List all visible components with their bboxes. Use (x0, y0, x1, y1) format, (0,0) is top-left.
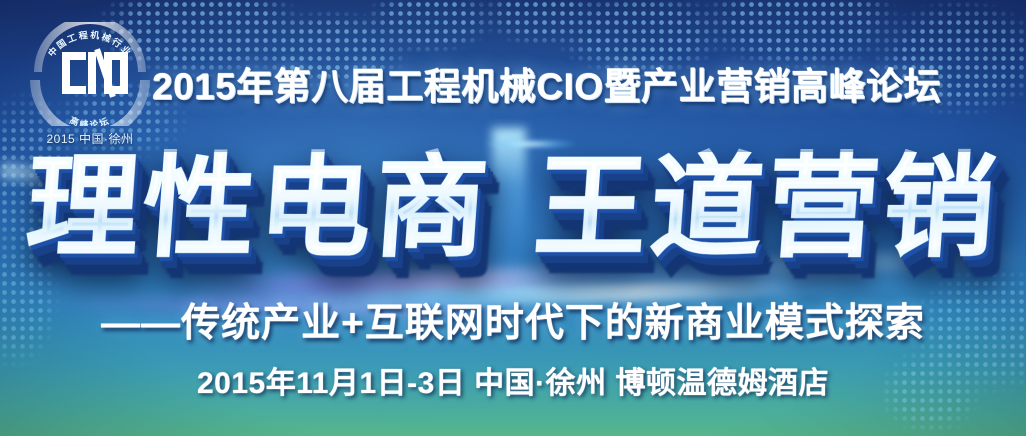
event-title: 2015年第八届工程机械CIO暨产业营销高峰论坛 (152, 56, 941, 110)
forum-logo: 中国工程机械行业 高峰论坛 (20, 22, 160, 126)
event-dateline: 2015年11月1日-3日 中国·徐州 博顿温德姆酒店 (0, 358, 1026, 402)
svg-text:高峰论坛: 高峰论坛 (68, 114, 112, 126)
headline-part-1: 理性电商 (23, 152, 495, 264)
forum-logo-icon: 中国工程机械行业 高峰论坛 (20, 22, 160, 126)
headline-part-2: 王道营销 (531, 152, 1003, 264)
event-subtitle: ——传统产业+互联网时代下的新商业模式探索 (0, 292, 1026, 348)
logo-arc-bottom-text: 高峰论坛 (68, 114, 112, 126)
headline: 理性电商王道营销 (0, 152, 1026, 264)
conference-banner: 中国工程机械行业 高峰论坛 2015 中国·徐州 2015年第八届工程机械CIO… (0, 0, 1026, 436)
